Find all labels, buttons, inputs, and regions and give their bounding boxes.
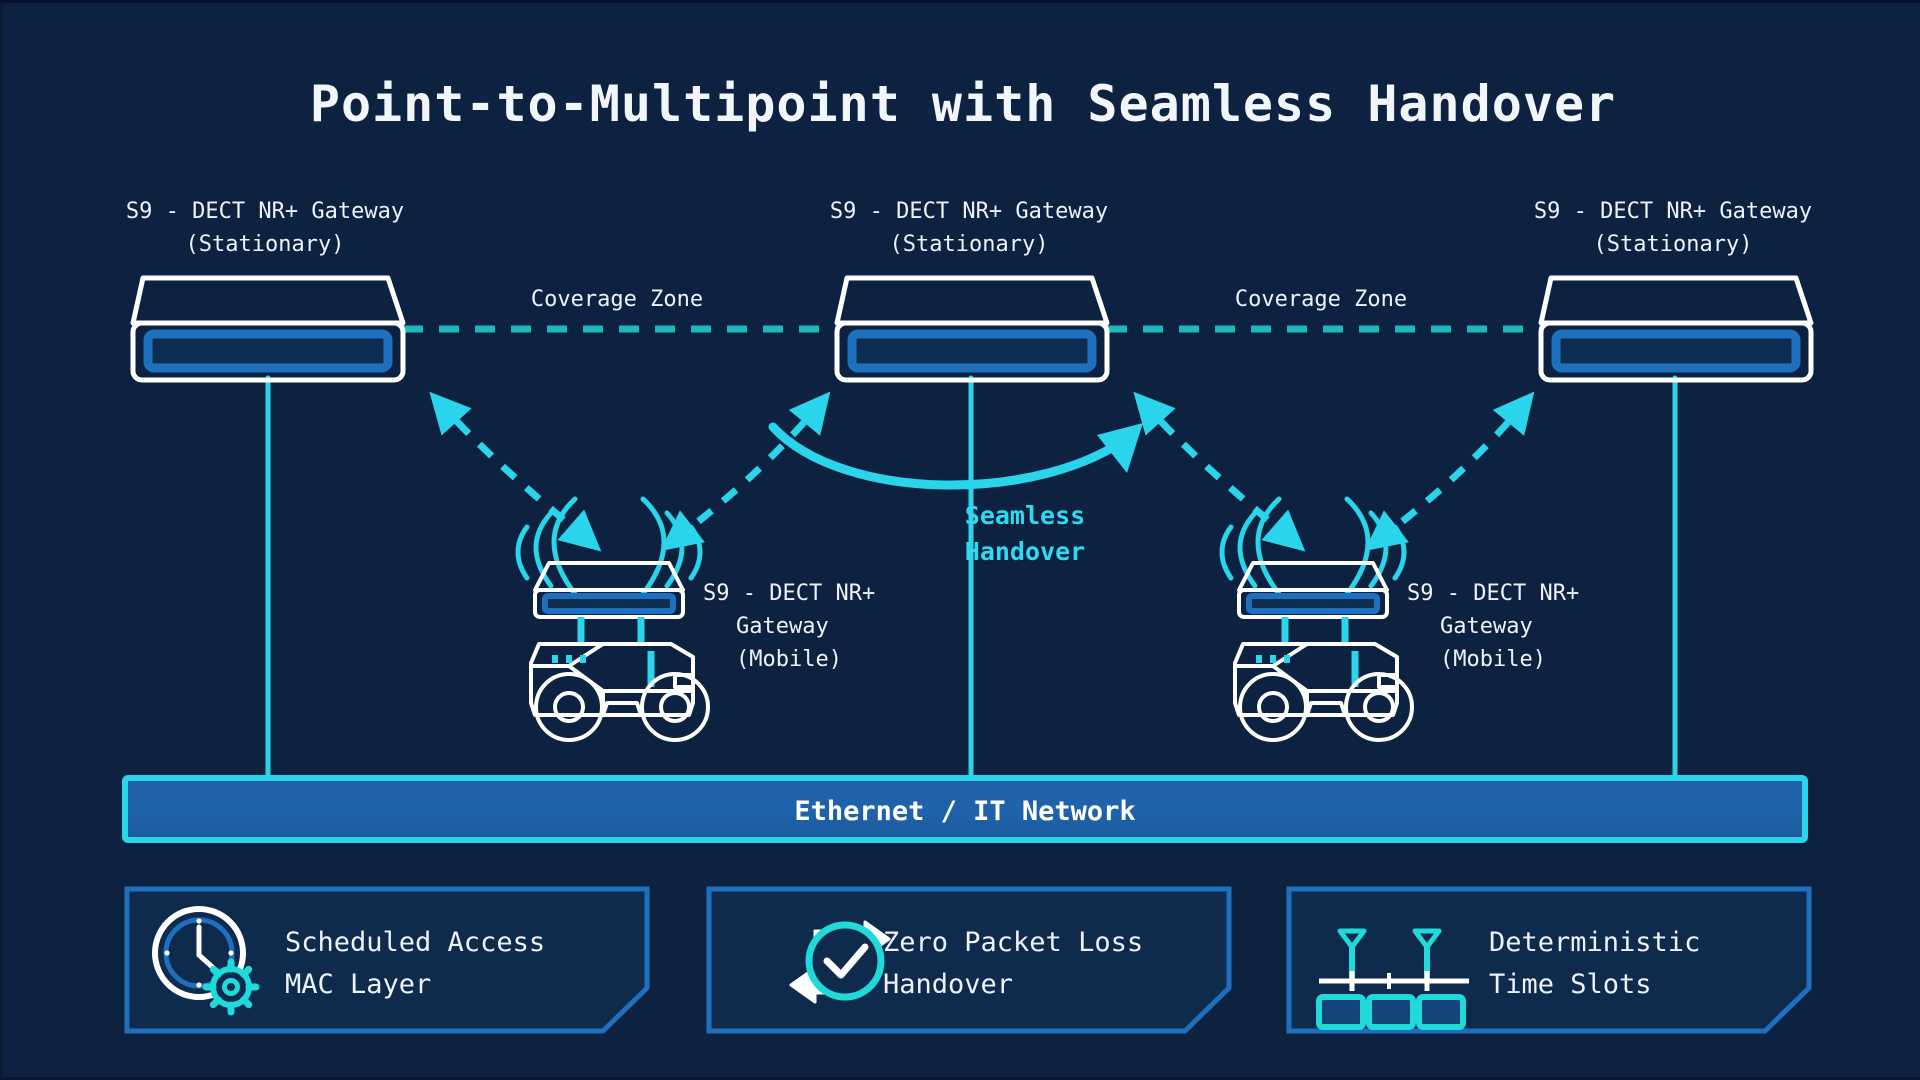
- network-diagram: Point-to-Multipoint with Seamless Handov…: [3, 3, 1920, 1080]
- gateway-device-icon: [133, 278, 403, 380]
- feature-card-3-label-line1: Deterministic: [1489, 927, 1700, 958]
- mobile-gateway-left[interactable]: S9 - DECT NR+ Gateway (Mobile): [518, 499, 875, 740]
- coverage-zone-label-2: Coverage Zone: [1235, 287, 1407, 312]
- signal-waves-icon: [1347, 499, 1404, 594]
- wireless-link-left-gw-to-mobile: [435, 398, 595, 546]
- seamless-handover-label-line2: Handover: [965, 537, 1085, 566]
- feature-card-deterministic-slots[interactable]: Deterministic Time Slots: [1289, 889, 1809, 1031]
- mobile-gateway-right[interactable]: S9 - DECT NR+ Gateway (Mobile): [1222, 499, 1579, 740]
- mobile-gateway-right-label-line3: (Mobile): [1440, 647, 1546, 672]
- stationary-gateway-left-label-line1: S9 - DECT NR+ Gateway: [126, 199, 404, 224]
- network-bus-label: Ethernet / IT Network: [794, 796, 1135, 827]
- stationary-gateway-left[interactable]: S9 - DECT NR+ Gateway (Stationary): [126, 199, 404, 380]
- backhaul-links: [268, 378, 1675, 781]
- gateway-device-icon: [1239, 563, 1387, 617]
- signal-waves-icon: [643, 499, 700, 594]
- signal-waves-icon: [1222, 499, 1279, 594]
- mobile-gateway-left-label-line3: (Mobile): [736, 647, 842, 672]
- gateway-device-icon: [535, 563, 683, 617]
- diagram-canvas: Point-to-Multipoint with Seamless Handov…: [0, 0, 1920, 1077]
- seamless-handover-label-line1: Seamless: [965, 501, 1085, 530]
- stationary-gateway-center[interactable]: S9 - DECT NR+ Gateway (Stationary): [830, 199, 1108, 380]
- gateway-device-icon: [1541, 278, 1811, 380]
- feature-card-2-frame: [709, 889, 1229, 1031]
- stationary-gateway-right-label-line1: S9 - DECT NR+ Gateway: [1534, 199, 1812, 224]
- gateway-device-icon: [837, 278, 1107, 380]
- agv-vehicle-icon: [1235, 644, 1412, 740]
- wireless-links-right: [1139, 398, 1529, 546]
- feature-card-3-label-line2: Time Slots: [1489, 969, 1652, 1000]
- wireless-link-center-gw-to-mobile-left: [667, 398, 825, 546]
- feature-card-2-label-line2: Handover: [883, 969, 1013, 1000]
- coverage-zone-label-1: Coverage Zone: [531, 287, 703, 312]
- ethernet-network-bus[interactable]: Ethernet / IT Network: [125, 778, 1805, 840]
- wireless-links-left: [435, 398, 825, 546]
- seamless-handover-arrow: [773, 423, 1143, 485]
- wireless-link-center-gw-to-mobile-right: [1139, 398, 1299, 546]
- stationary-gateway-right[interactable]: S9 - DECT NR+ Gateway (Stationary): [1534, 199, 1812, 380]
- mobile-gateway-right-label-line2: Gateway: [1440, 614, 1533, 639]
- stationary-gateway-center-label-line1: S9 - DECT NR+ Gateway: [830, 199, 1108, 224]
- stationary-gateway-right-label-line2: (Stationary): [1594, 232, 1753, 257]
- feature-card-scheduled-access[interactable]: Scheduled Access MAC Layer: [127, 889, 647, 1031]
- mobile-gateway-left-label-line1: S9 - DECT NR+: [703, 581, 875, 606]
- feature-card-zero-packet-loss[interactable]: Zero Packet Loss Handover: [709, 889, 1229, 1031]
- stationary-gateway-left-label-line2: (Stationary): [186, 232, 345, 257]
- wireless-link-right-gw-to-mobile: [1371, 398, 1529, 546]
- agv-vehicle-icon: [531, 644, 708, 740]
- mobile-gateway-right-label-line1: S9 - DECT NR+: [1407, 581, 1579, 606]
- feature-card-2-label-line1: Zero Packet Loss: [883, 927, 1143, 958]
- mobile-gateway-left-label-line2: Gateway: [736, 614, 829, 639]
- feature-card-1-label-line2: MAC Layer: [285, 969, 431, 1000]
- signal-waves-icon: [518, 499, 575, 594]
- feature-card-1-label-line1: Scheduled Access: [285, 927, 545, 958]
- stationary-gateway-center-label-line2: (Stationary): [890, 232, 1049, 257]
- page-title: Point-to-Multipoint with Seamless Handov…: [310, 75, 1616, 133]
